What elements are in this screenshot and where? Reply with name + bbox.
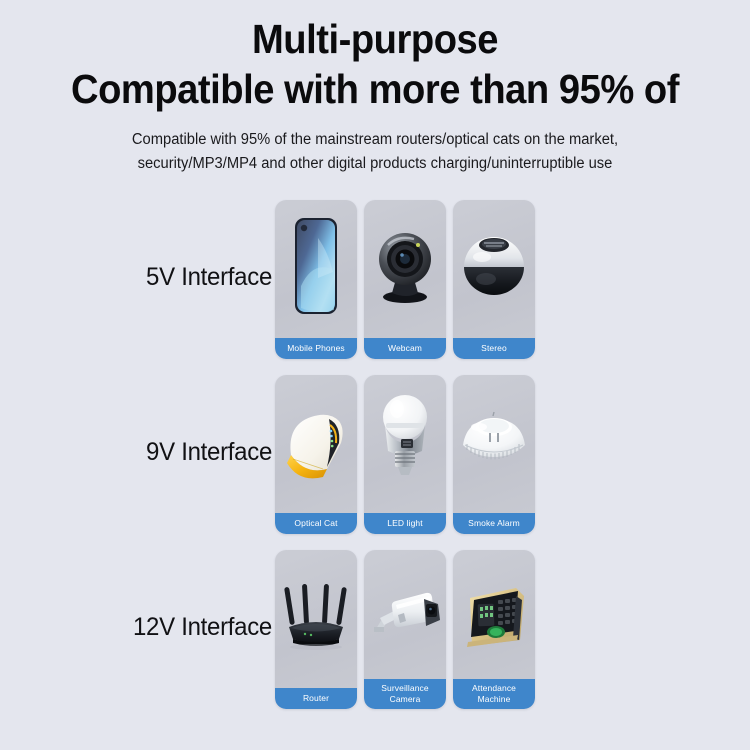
card-group-12v: Router <box>275 550 535 709</box>
page-title-line-1: Multi-purpose <box>26 14 724 64</box>
card-label-line-1: Surveillance <box>381 683 429 693</box>
card-label: LED light <box>364 513 446 534</box>
mobile-phone-icon <box>275 200 357 332</box>
card-label-line-2: Camera <box>390 694 421 704</box>
product-card-stereo[interactable]: Stereo <box>453 200 535 359</box>
card-label: Webcam <box>364 338 446 359</box>
led-bulb-icon <box>364 375 446 507</box>
row-label-12v: 12V Interface <box>11 546 272 709</box>
card-group-5v: Mobile Phones <box>275 200 535 359</box>
card-label-line-1: Attendance <box>472 683 516 693</box>
card-label: Smoke Alarm <box>453 513 535 534</box>
card-label: Mobile Phones <box>275 338 357 359</box>
stereo-speaker-icon <box>453 200 535 332</box>
interface-row-9v: 9V Interface <box>0 371 750 546</box>
webcam-icon <box>364 200 446 332</box>
product-card-attendance-machine[interactable]: AttendanceMachine <box>453 550 535 709</box>
product-card-webcam[interactable]: Webcam <box>364 200 446 359</box>
product-card-led-light[interactable]: LED light <box>364 375 446 534</box>
row-label-5v: 5V Interface <box>11 196 272 359</box>
interface-row-12v: 12V Interface <box>0 546 750 721</box>
subtitle-line-1: Compatible with 95% of the mainstream ro… <box>62 128 689 152</box>
interface-row-5v: 5V Interface <box>0 196 750 371</box>
card-label: Router <box>275 688 357 709</box>
card-label: Optical Cat <box>275 513 357 534</box>
attendance-terminal-icon <box>453 550 535 682</box>
header: Multi-purpose Compatible with more than … <box>0 0 750 176</box>
product-card-optical-cat[interactable]: Optical Cat <box>275 375 357 534</box>
smoke-alarm-icon <box>453 375 535 507</box>
subtitle: Compatible with 95% of the mainstream ro… <box>62 128 689 176</box>
security-camera-icon <box>364 550 446 682</box>
card-label: AttendanceMachine <box>453 679 535 709</box>
interface-rows: 5V Interface <box>0 196 750 721</box>
subtitle-line-2: security/MP3/MP4 and other digital produ… <box>62 152 689 176</box>
row-label-9v: 9V Interface <box>11 371 272 534</box>
card-label: Stereo <box>453 338 535 359</box>
wifi-router-icon <box>275 550 357 682</box>
card-label: SurveillanceCamera <box>364 679 446 709</box>
optical-modem-icon <box>275 375 357 507</box>
card-group-9v: Optical Cat <box>275 375 535 534</box>
card-label-line-2: Machine <box>478 694 511 704</box>
product-card-mobile-phones[interactable]: Mobile Phones <box>275 200 357 359</box>
product-card-smoke-alarm[interactable]: Smoke Alarm <box>453 375 535 534</box>
page-title-line-2: Compatible with more than 95% of <box>26 64 724 114</box>
product-card-surveillance-camera[interactable]: SurveillanceCamera <box>364 550 446 709</box>
product-card-router[interactable]: Router <box>275 550 357 709</box>
